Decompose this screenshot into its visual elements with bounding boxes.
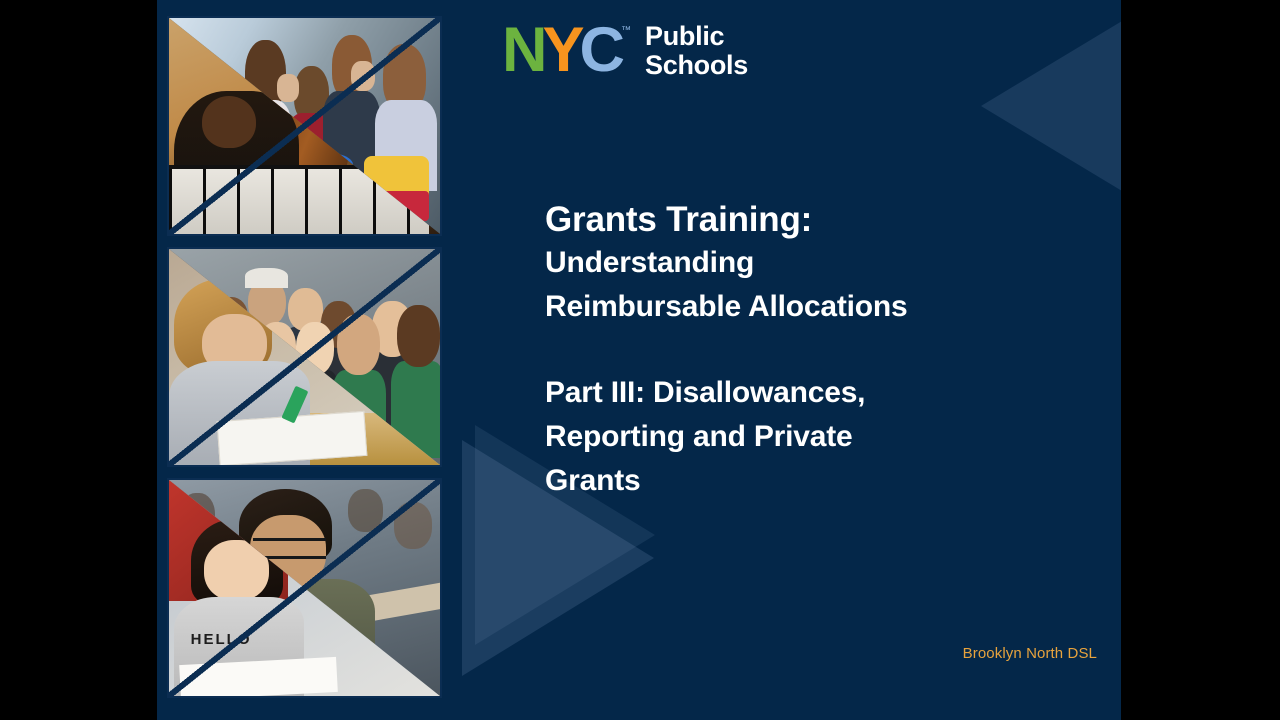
triangle-top-right-icon: [981, 18, 1121, 194]
title-part-line2: Reporting and Private: [545, 415, 1065, 459]
photo-collage: HELLO: [167, 16, 442, 700]
nyc-logo-letter-y: Y: [543, 22, 580, 80]
nyc-logo-letter-c: C: [580, 22, 621, 80]
photo-student-and-kitchen-staff: [167, 247, 442, 467]
title-main: Grants Training:: [545, 198, 1065, 241]
title-subtitle-line2: Reimbursable Allocations: [545, 285, 1065, 329]
slide-stage: HELLO N Y C ™ Public Schools Grants Trai…: [0, 0, 1280, 720]
footer-note: Brooklyn North DSL: [157, 645, 1097, 662]
title-part-line1: Part III: Disallowances,: [545, 371, 1065, 415]
title-part: Part III: Disallowances, Reporting and P…: [545, 371, 1065, 502]
slide-canvas: HELLO N Y C ™ Public Schools Grants Trai…: [157, 0, 1121, 720]
nyc-logo-mark: N Y C ™: [502, 22, 631, 80]
trademark-icon: ™: [621, 26, 631, 36]
nyc-logo-letter-n: N: [502, 22, 543, 80]
photo-music-and-toddlers: [167, 16, 442, 236]
photo-girl-and-teen: HELLO: [167, 478, 442, 698]
title-subtitle-line1: Understanding: [545, 241, 1065, 285]
title-block: Grants Training: Understanding Reimbursa…: [545, 198, 1065, 502]
title-part-line3: Grants: [545, 459, 1065, 503]
wordmark-line-public: Public: [645, 22, 748, 51]
nyc-public-schools-logo: N Y C ™ Public Schools: [502, 22, 748, 80]
title-subtitle: Understanding Reimbursable Allocations: [545, 241, 1065, 329]
nyc-logo-wordmark: Public Schools: [645, 22, 748, 79]
wordmark-line-schools: Schools: [645, 51, 748, 80]
